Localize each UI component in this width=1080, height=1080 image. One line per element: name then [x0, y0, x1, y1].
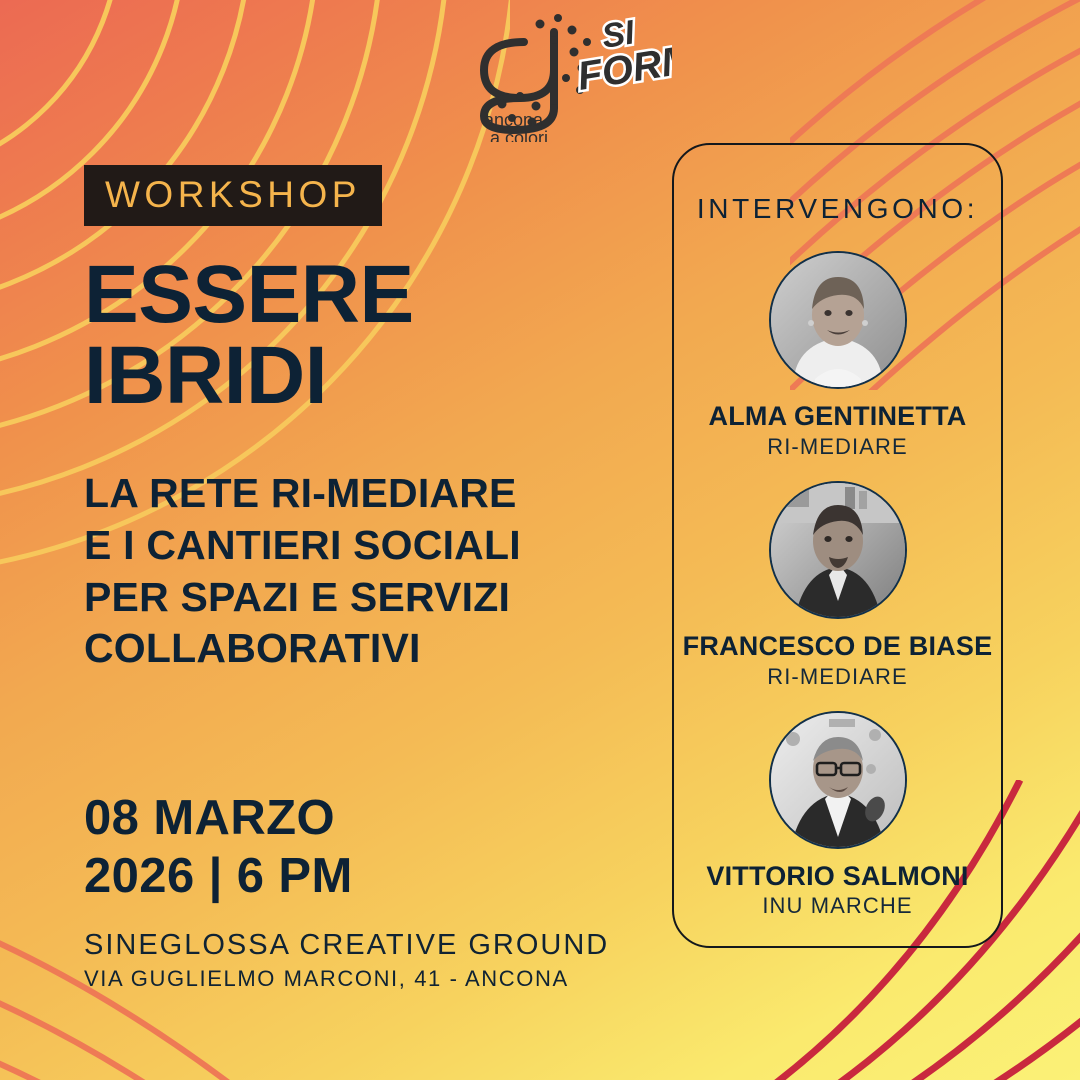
poster-canvas: SI FORMA ancona a colori WORKSHOP ESSERE…	[0, 0, 1080, 1080]
venue-address: VIA GUGLIELMO MARCONI, 41 - ANCONA	[84, 966, 624, 992]
avatar	[769, 251, 907, 389]
logo-wordmark: SI FORMA	[575, 13, 672, 99]
brand-logo: SI FORMA ancona a colori	[462, 12, 672, 142]
avatar	[769, 481, 907, 619]
event-datetime: 08 MARZO 2026 | 6 PM	[84, 790, 624, 906]
venue-name: SINEGLOSSA CREATIVE GROUND	[84, 929, 624, 963]
speaker-name: ALMA GENTINETTA	[674, 402, 1001, 432]
speaker-org: RI-MEDIARE	[674, 665, 1001, 689]
speaker-card: VITTORIO SALMONI INU MARCHE	[674, 711, 1001, 919]
logo-tagline: ancona a colori	[484, 110, 548, 142]
speaker-name: VITTORIO SALMONI	[674, 862, 1001, 892]
speaker-org: INU MARCHE	[674, 894, 1001, 918]
svg-text:ancona: ancona	[484, 110, 544, 130]
speaker-card: ALMA GENTINETTA RI-MEDIARE	[674, 251, 1001, 459]
event-subtitle: LA RETE RI-MEDIARE E I CANTIERI SOCIALI …	[84, 468, 624, 675]
svg-text:a colori: a colori	[490, 128, 548, 142]
page-title: ESSERE IBRIDI	[84, 254, 624, 416]
speakers-panel: INTERVENGONO:	[672, 143, 1003, 948]
event-info-column: WORKSHOP ESSERE IBRIDI LA RETE RI-MEDIAR…	[84, 165, 624, 992]
speaker-name: FRANCESCO DE BIASE	[674, 632, 1001, 662]
speaker-org: RI-MEDIARE	[674, 435, 1001, 459]
speaker-card: FRANCESCO DE BIASE RI-MEDIARE	[674, 481, 1001, 689]
speakers-heading: INTERVENGONO:	[674, 193, 1001, 225]
avatar	[769, 711, 907, 849]
workshop-badge: WORKSHOP	[84, 165, 382, 226]
